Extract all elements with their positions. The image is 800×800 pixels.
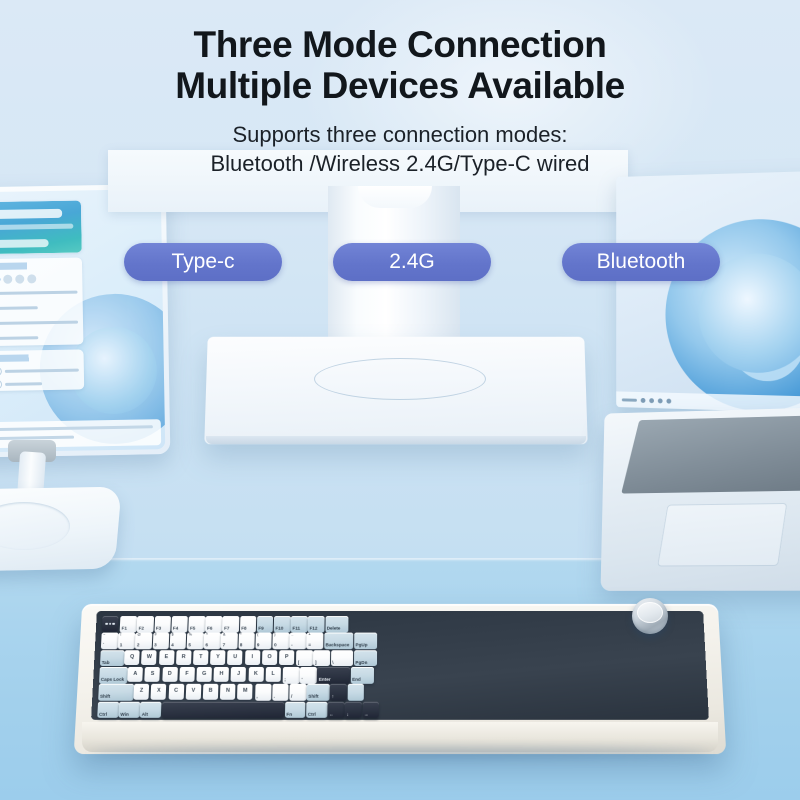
- key-legend: Tab: [102, 661, 110, 666]
- tablet-device: [0, 184, 170, 458]
- badge-bluetooth: Bluetooth: [562, 243, 720, 281]
- key-sublegend: ): [274, 634, 275, 638]
- key-legend: H: [219, 672, 223, 677]
- key-legend: ←: [329, 712, 334, 717]
- key-legend: Shift: [308, 695, 318, 700]
- key--[interactable]: ←: [328, 701, 345, 718]
- key-pgdn[interactable]: PgDn: [354, 650, 378, 667]
- event-title: [0, 321, 78, 325]
- laptop-screen: [616, 171, 800, 413]
- key-f6[interactable]: F6: [205, 616, 222, 632]
- key-legend: F6: [207, 627, 212, 631]
- key-enter[interactable]: Enter: [317, 667, 350, 684]
- key-legend: Alt: [142, 712, 148, 717]
- key-legend: 8: [240, 644, 243, 649]
- key-[interactable]: ~`: [101, 633, 118, 650]
- key-sublegend: *: [240, 634, 241, 638]
- widget-card-todo: [0, 349, 84, 391]
- key-f9[interactable]: F9: [257, 616, 274, 632]
- key-sublegend: (: [257, 634, 258, 638]
- key-legend: Shift: [100, 695, 111, 700]
- key-sublegend: _: [291, 634, 293, 638]
- key-legend: 1: [120, 644, 123, 649]
- key-delete[interactable]: Delete: [325, 616, 349, 632]
- key--[interactable]: ↑: [330, 684, 347, 701]
- taskbar-clock: [622, 398, 637, 401]
- key-legend: Q: [130, 655, 134, 660]
- key--[interactable]: ': [300, 667, 317, 684]
- key-legend: ': [301, 678, 302, 683]
- key-legend: E: [164, 655, 168, 660]
- mechanical-keyboard: F1F2F3F4F5F6F7F8F9F10F11F12Delete~`!1@2#…: [78, 596, 722, 762]
- laptop-trackpad: [657, 503, 787, 567]
- page-subtitle: Supports three connection modes: Bluetoo…: [0, 120, 800, 178]
- product-marketing-image: F1F2F3F4F5F6F7F8F9F10F11F12Delete~`!1@2#…: [0, 0, 800, 800]
- key-v[interactable]: V: [186, 684, 202, 699]
- key-0[interactable]: )0: [272, 633, 289, 650]
- key-legend: F1: [121, 627, 127, 631]
- key-legend: L: [271, 672, 274, 677]
- wifi-icon: [658, 398, 663, 403]
- key-legend: F7: [224, 627, 229, 631]
- badge-2-4g: 2.4G: [333, 243, 491, 281]
- key-legend: O: [267, 655, 271, 660]
- key-z[interactable]: Z: [134, 684, 150, 699]
- key-legend: F9: [258, 627, 263, 631]
- page-title: Three Mode Connection Multiple Devices A…: [0, 24, 800, 107]
- key-f2[interactable]: F2: [137, 616, 154, 632]
- key-shift[interactable]: Shift: [307, 684, 330, 701]
- key-[interactable]: _-: [289, 633, 306, 650]
- key-legend: B: [209, 689, 213, 694]
- key-legend: P: [285, 655, 289, 660]
- key-legend: 2: [137, 644, 140, 649]
- key-legend: .: [274, 695, 275, 700]
- key-legend: F2: [139, 627, 145, 631]
- key-2[interactable]: @2: [135, 633, 152, 650]
- calendar-event-row: [0, 314, 83, 331]
- key-f1[interactable]: F1: [120, 616, 137, 632]
- headline-line-2: Multiple Devices Available: [0, 65, 800, 106]
- esc-indicator-dots-icon: [105, 623, 114, 625]
- todo-text: [5, 369, 79, 373]
- key-legend: Caps Lock: [101, 678, 125, 683]
- key-sublegend: ^: [206, 634, 208, 638]
- key-legend: F10: [275, 627, 283, 631]
- key-[interactable]: +=: [307, 633, 324, 650]
- key-o[interactable]: O: [262, 650, 277, 665]
- event-title: [0, 291, 78, 295]
- network-icon: [641, 397, 646, 402]
- monitor-base-edge: [206, 436, 586, 444]
- key--[interactable]: →: [362, 701, 379, 718]
- bottom-text-line: [0, 425, 153, 431]
- key-sublegend: ~: [103, 634, 105, 638]
- calendar-event-row: [0, 299, 83, 316]
- key-legend: Y: [216, 655, 220, 660]
- key-esc[interactable]: [102, 616, 119, 631]
- laptop-keyboard-deck: [621, 415, 800, 494]
- key-e[interactable]: E: [159, 650, 175, 665]
- key-l[interactable]: L: [265, 667, 280, 682]
- key-legend: ;: [284, 678, 286, 683]
- key-legend: F11: [292, 627, 300, 631]
- key-d[interactable]: D: [162, 667, 178, 682]
- key-f4[interactable]: F4: [171, 616, 188, 632]
- key-legend: Enter: [319, 678, 331, 683]
- key-f10[interactable]: F10: [274, 616, 291, 632]
- subheadline-line-2: Bluetooth /Wireless 2.4G/Type-C wired: [0, 149, 800, 178]
- keyboard-key-plate: F1F2F3F4F5F6F7F8F9F10F11F12Delete~`!1@2#…: [91, 611, 709, 720]
- key--[interactable]: .: [272, 684, 289, 701]
- keyboard-drop-shadow: [92, 748, 708, 758]
- todo-card-header: [0, 354, 79, 362]
- key-9[interactable]: (9: [255, 633, 272, 650]
- key-3[interactable]: #3: [152, 633, 169, 650]
- key-legend: 9: [257, 644, 260, 649]
- key--[interactable]: [: [296, 650, 313, 667]
- key-space[interactable]: [347, 684, 364, 701]
- rotary-knob-top: [637, 602, 663, 623]
- headline-line-1: Three Mode Connection: [0, 24, 800, 65]
- key-u[interactable]: U: [227, 650, 242, 665]
- key-p[interactable]: P: [279, 650, 294, 665]
- key-legend: ↓: [346, 712, 348, 717]
- key-f8[interactable]: F8: [240, 616, 257, 632]
- key-sublegend: &: [223, 634, 226, 638]
- key-legend: R: [182, 655, 186, 660]
- key-1[interactable]: !1: [118, 633, 135, 650]
- laptop-body: [601, 407, 800, 591]
- key--[interactable]: ;: [283, 667, 300, 684]
- key-legend: [: [298, 661, 300, 666]
- key-f12[interactable]: F12: [308, 616, 325, 632]
- key-legend: S: [151, 672, 155, 677]
- key-a[interactable]: A: [127, 667, 143, 682]
- key-end[interactable]: End: [350, 667, 374, 684]
- key-legend: C: [174, 689, 178, 694]
- key-5[interactable]: %5: [187, 633, 204, 650]
- key-8[interactable]: *8: [238, 633, 255, 650]
- todo-item: [0, 376, 84, 391]
- key-ctrl[interactable]: Ctrl: [306, 701, 327, 718]
- key-legend: X: [157, 689, 161, 694]
- key-shift[interactable]: Shift: [98, 684, 134, 701]
- key-legend: PgUp: [356, 644, 368, 649]
- key-legend: Backspace: [325, 644, 349, 649]
- key-legend: F5: [190, 627, 196, 631]
- key-q[interactable]: Q: [124, 650, 140, 665]
- key-legend: F4: [173, 627, 179, 631]
- checkbox-icon: [0, 367, 2, 376]
- tablet-widgets-panel: [0, 200, 84, 396]
- key-legend: G: [202, 672, 206, 677]
- volume-icon: [649, 398, 654, 403]
- calendar-event-row: [0, 329, 83, 346]
- key-legend: ,: [256, 695, 257, 700]
- key-j[interactable]: J: [231, 667, 246, 682]
- key-backspace[interactable]: Backspace: [324, 633, 354, 650]
- key-f3[interactable]: F3: [154, 616, 171, 632]
- key-legend: 3: [154, 644, 157, 649]
- key-fn[interactable]: Fn: [285, 701, 306, 718]
- key--[interactable]: ↓: [345, 701, 362, 718]
- badge-type-c: Type-c: [124, 243, 282, 281]
- key--[interactable]: ]: [313, 650, 330, 667]
- key-legend: ↑: [332, 695, 334, 700]
- key-legend: ]: [315, 661, 317, 666]
- key-legend: J: [237, 672, 240, 677]
- key-legend: 5: [188, 644, 191, 649]
- key--[interactable]: \: [331, 650, 354, 667]
- key-legend: 0: [274, 644, 277, 649]
- key-legend: \: [332, 661, 333, 666]
- key-sublegend: !: [120, 634, 121, 638]
- key-ctrl[interactable]: Ctrl: [97, 701, 119, 718]
- key-legend: F: [185, 672, 189, 677]
- key-pgup[interactable]: PgUp: [354, 633, 378, 650]
- key-win[interactable]: Win: [119, 701, 141, 718]
- key-legend: Ctrl: [308, 712, 316, 717]
- key-c[interactable]: C: [168, 684, 184, 699]
- key-caps-lock[interactable]: Caps Lock: [99, 667, 127, 684]
- key-s[interactable]: S: [145, 667, 161, 682]
- todo-text: [5, 382, 42, 386]
- key-sublegend: %: [189, 634, 192, 638]
- key-legend: -: [291, 644, 293, 649]
- key-space[interactable]: [161, 701, 284, 718]
- key-sublegend: $: [172, 634, 174, 638]
- key-f[interactable]: F: [179, 667, 195, 682]
- key-legend: Ctrl: [99, 712, 107, 717]
- key-legend: Win: [120, 712, 129, 717]
- calendar-event-row: [0, 284, 83, 301]
- key-legend: M: [243, 689, 248, 694]
- key-legend: 6: [205, 644, 208, 649]
- key-sublegend: @: [137, 634, 141, 638]
- key-6[interactable]: ^6: [204, 633, 221, 650]
- key-tab[interactable]: Tab: [100, 650, 124, 667]
- key-legend: D: [168, 672, 172, 677]
- key-legend: /: [291, 695, 292, 700]
- key-legend: K: [254, 672, 258, 677]
- key-legend: U: [233, 655, 237, 660]
- key-legend: →: [364, 712, 369, 717]
- chevron-up-icon: [666, 398, 671, 403]
- key-g[interactable]: G: [196, 667, 212, 682]
- key-b[interactable]: B: [203, 684, 219, 699]
- connection-mode-badges: Type-c 2.4G Bluetooth: [0, 243, 800, 285]
- monitor-neck-highlight: [358, 186, 432, 208]
- key-y[interactable]: Y: [210, 650, 225, 665]
- key-4[interactable]: $4: [169, 633, 186, 650]
- key-f11[interactable]: F11: [291, 616, 308, 632]
- monitor-base-ring: [314, 358, 486, 400]
- key-x[interactable]: X: [151, 684, 167, 699]
- key-legend: `: [102, 644, 104, 649]
- key-h[interactable]: H: [214, 667, 230, 682]
- key-legend: N: [226, 689, 230, 694]
- checkbox-icon: [0, 380, 2, 389]
- key--[interactable]: ,: [255, 684, 272, 701]
- key-sublegend: +: [308, 634, 310, 638]
- tablet-screen: [0, 189, 165, 453]
- key-7[interactable]: &7: [221, 633, 238, 650]
- key-legend: I: [251, 655, 253, 660]
- key-legend: =: [308, 644, 311, 649]
- key-legend: V: [191, 689, 195, 694]
- event-title: [0, 306, 37, 310]
- key-legend: 7: [223, 644, 226, 649]
- key-legend: F3: [156, 627, 162, 631]
- key-alt[interactable]: Alt: [140, 701, 161, 718]
- event-title: [0, 336, 38, 340]
- key-legend: Fn: [286, 712, 292, 717]
- key-f5[interactable]: F5: [188, 616, 205, 632]
- key-legend: F12: [310, 627, 318, 631]
- key-r[interactable]: R: [176, 650, 192, 665]
- key-legend: T: [199, 655, 202, 660]
- key-legend: PgDn: [355, 661, 367, 666]
- key-w[interactable]: W: [141, 650, 157, 665]
- key-legend: F8: [241, 627, 246, 631]
- key-m[interactable]: M: [237, 684, 252, 699]
- key-sublegend: #: [154, 634, 156, 638]
- key-legend: Z: [140, 689, 144, 694]
- key-legend: End: [352, 678, 361, 683]
- key-legend: W: [147, 655, 152, 660]
- rotary-knob[interactable]: [632, 598, 668, 634]
- key-f7[interactable]: F7: [222, 616, 239, 632]
- subheadline-line-1: Supports three connection modes:: [0, 120, 800, 149]
- key-legend: Delete: [327, 627, 341, 631]
- key-k[interactable]: K: [248, 667, 263, 682]
- key-i[interactable]: I: [245, 650, 260, 665]
- key-legend: 4: [171, 644, 174, 649]
- key-legend: A: [133, 672, 137, 677]
- key-t[interactable]: T: [193, 650, 209, 665]
- key-n[interactable]: N: [220, 684, 236, 699]
- key--[interactable]: /: [289, 684, 306, 701]
